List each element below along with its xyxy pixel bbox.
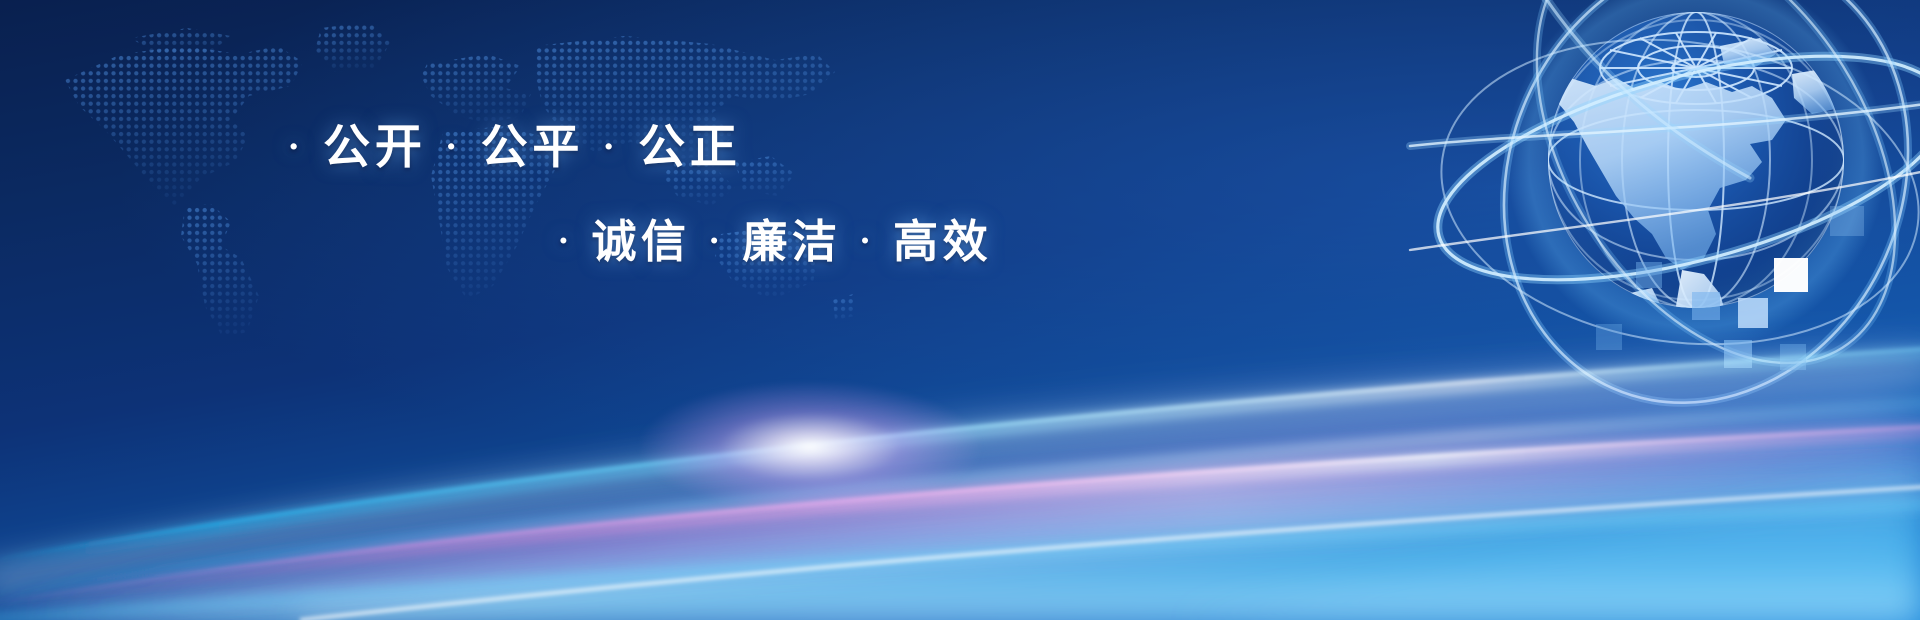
light-wave-graphic <box>0 290 1920 620</box>
pixel-square <box>1774 258 1808 292</box>
pixel-square <box>1636 262 1662 288</box>
slogan-line-2: ·诚信·廉洁·高效 <box>555 220 1100 265</box>
bullet-separator-icon: · <box>285 126 307 168</box>
slogan-word-gongzheng: 公正 <box>638 122 741 174</box>
slogan-word-lianjie: 廉洁 <box>742 217 841 267</box>
bullet-separator-icon: · <box>706 220 727 261</box>
slogan-line-1: ·公开·公平·公正 <box>285 125 1100 172</box>
slogan-word-chengxin: 诚信 <box>592 217 691 267</box>
banner-root: ·公开·公平·公正 ·诚信·廉洁·高效 <box>0 0 1920 620</box>
slogan-word-gongkai: 公开 <box>323 122 426 174</box>
bullet-separator-icon: · <box>600 126 622 168</box>
slogan-word-gongping: 公平 <box>481 122 584 174</box>
bullet-separator-icon: · <box>555 220 576 261</box>
pixel-square <box>1830 206 1864 236</box>
slogan-word-gaoxiao: 高效 <box>893 217 992 267</box>
light-hotspot <box>640 382 980 512</box>
slogan-block: ·公开·公平·公正 ·诚信·廉洁·高效 <box>0 125 1100 265</box>
bullet-separator-icon: · <box>857 220 878 261</box>
bullet-separator-icon: · <box>443 126 465 168</box>
